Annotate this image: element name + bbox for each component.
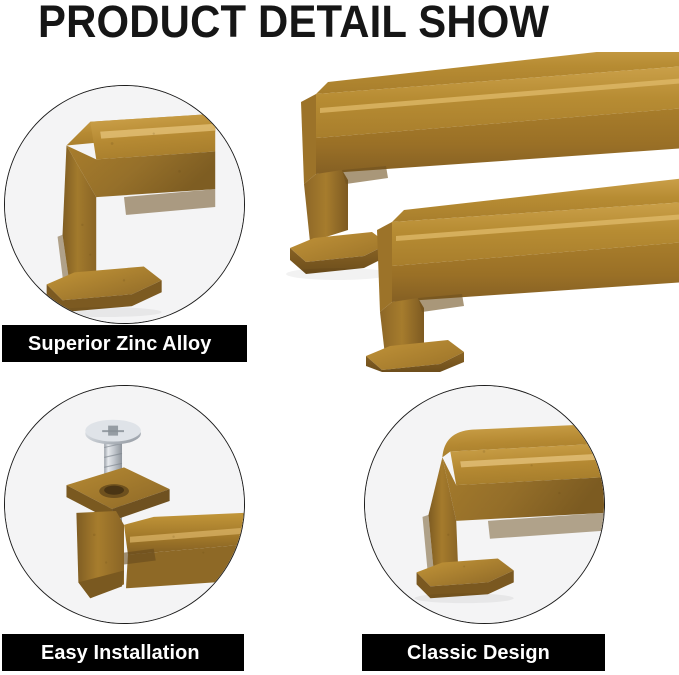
feature-image-installation [4,385,245,624]
brass-pulls-illustration [276,52,679,372]
page-title: PRODUCT DETAIL SHOW [38,0,559,47]
caption-label-design: Classic Design [407,641,550,665]
caption-label-zinc: Superior Zinc Alloy [28,332,211,356]
product-detail-sheet: PRODUCT DETAIL SHOW [0,0,679,675]
zinc-alloy-closeup-illustration [5,86,244,323]
caption-banner-zinc: Superior Zinc Alloy [2,325,247,362]
feature-image-design [364,385,605,624]
feature-image-zinc [4,85,245,324]
caption-banner-installation: Easy Installation [2,634,244,671]
caption-label-installation: Easy Installation [41,641,200,665]
easy-installation-illustration [5,386,244,623]
classic-design-closeup-illustration [365,386,604,623]
caption-banner-design: Classic Design [362,634,605,671]
brass-pull-lower [366,178,679,372]
hero-image-brass-pulls [276,52,679,372]
